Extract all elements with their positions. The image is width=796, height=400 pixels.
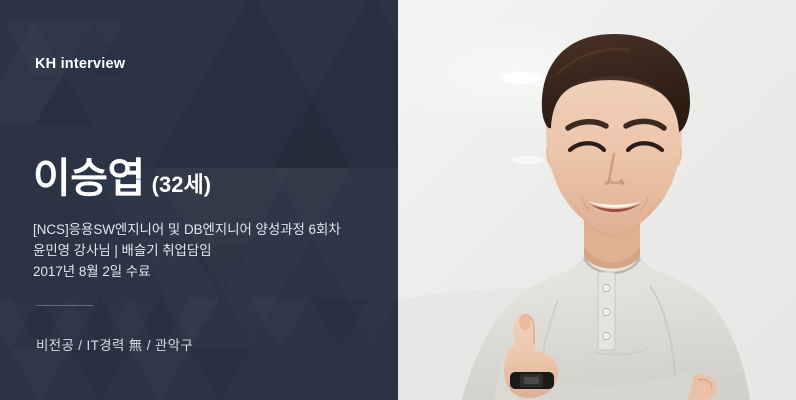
candidate-photo	[398, 0, 796, 400]
triangle-shape	[250, 298, 310, 350]
triangle-shape	[4, 74, 64, 126]
triangle-shape	[34, 74, 94, 126]
left-info-panel: KH interview 이승엽 (32세) [NCS]응용SW엔지니어 및 D…	[0, 0, 398, 400]
instructor-line: 윤민영 강사님 | 배슬기 취업담임	[33, 240, 341, 261]
candidate-photo-illustration	[398, 0, 796, 400]
triangle-shape	[130, 350, 190, 400]
candidate-age: (32세)	[152, 174, 211, 196]
candidate-tags: 비전공 / IT경력 無 / 관악구	[36, 334, 193, 354]
triangle-shape	[10, 350, 70, 400]
kh-interview-kicker: KH interview	[35, 56, 125, 72]
triangle-shape	[70, 350, 130, 400]
triangle-shape	[190, 350, 250, 400]
triangle-shape	[152, 0, 352, 168]
triangle-shape	[0, 74, 34, 126]
section-divider	[36, 305, 93, 306]
candidate-name: 이승엽	[33, 158, 145, 199]
triangle-shape	[272, 0, 398, 168]
completion-date-line: 2017년 8월 2일 수료	[33, 261, 341, 282]
kh-interview-banner: KH interview 이승엽 (32세) [NCS]응용SW엔지니어 및 D…	[0, 0, 796, 400]
course-title-line: [NCS]응용SW엔지니어 및 DB엔지니어 양성과정 6회차	[33, 219, 341, 240]
course-description-block: [NCS]응용SW엔지니어 및 DB엔지니어 양성과정 6회차 윤민영 강사님 …	[33, 219, 341, 282]
triangle-shape	[310, 298, 370, 350]
candidate-name-row: 이승엽 (32세)	[33, 158, 211, 199]
triangle-shape	[0, 298, 40, 350]
